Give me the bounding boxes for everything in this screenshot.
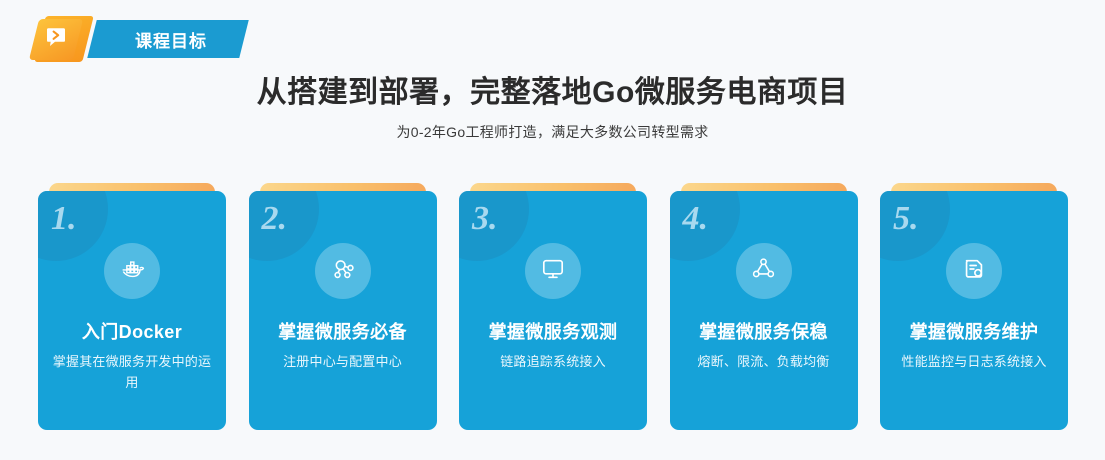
card-number: 3. [472,199,498,239]
course-card-5[interactable]: 5. 掌握微服务维护 性能监控与日志系统接入 [880,183,1068,430]
hero-title-block: 从搭建到部署，完整落地Go微服务电商项目 为0-2年Go工程师打造，满足大多数公… [0,72,1105,142]
log-document-icon [960,255,988,288]
card-icon-circle [315,243,371,299]
card-number: 2. [262,199,288,239]
course-card-4[interactable]: 4. 掌握微服务保稳 熔断、限流、负载均衡 [670,183,858,430]
course-card-1[interactable]: 1. [38,183,226,430]
card-number: 1. [51,199,77,239]
card-icon-circle [736,243,792,299]
card-body: 4. 掌握微服务保稳 熔断、限流、负载均衡 [670,191,858,430]
card-description: 性能监控与日志系统接入 [892,351,1056,372]
service-nodes-icon [328,254,358,289]
card-title: 掌握微服务保稳 [670,319,858,345]
monitor-screen-icon [539,255,567,288]
page-subtitle: 为0-2年Go工程师打造，满足大多数公司转型需求 [0,122,1105,142]
card-icon-circle [104,243,160,299]
card-title: 掌握微服务必备 [249,319,437,345]
card-title: 掌握微服务维护 [880,319,1068,345]
card-title: 入门Docker [38,319,226,345]
share-triangle-icon [749,254,778,288]
card-number: 4. [683,199,709,239]
card-icon-circle [946,243,1002,299]
course-goal-cards: 1. [38,183,1068,430]
course-card-2[interactable]: 2. 掌握微服务必 [249,183,437,430]
speech-bubble-chevron-logo-icon [44,25,68,54]
card-description: 链路追踪系统接入 [471,351,635,372]
badge-label: 课程目标 [106,20,236,58]
card-description: 注册中心与配置中心 [261,351,425,372]
card-body: 1. [38,191,226,430]
card-title: 掌握微服务观测 [459,319,647,345]
card-body: 2. 掌握微服务必 [249,191,437,430]
page-title: 从搭建到部署，完整落地Go微服务电商项目 [0,72,1105,114]
card-description: 掌握其在微服务开发中的运用 [50,351,214,393]
card-description: 熔断、限流、负载均衡 [682,351,846,372]
card-icon-circle [525,243,581,299]
card-body: 3. 掌握微服务观测 链路追踪系统接入 [459,191,647,430]
docker-whale-icon [117,254,147,289]
course-card-3[interactable]: 3. 掌握微服务观测 链路追踪系统接入 [459,183,647,430]
card-body: 5. 掌握微服务维护 性能监控与日志系统接入 [880,191,1068,430]
card-number: 5. [893,199,919,239]
